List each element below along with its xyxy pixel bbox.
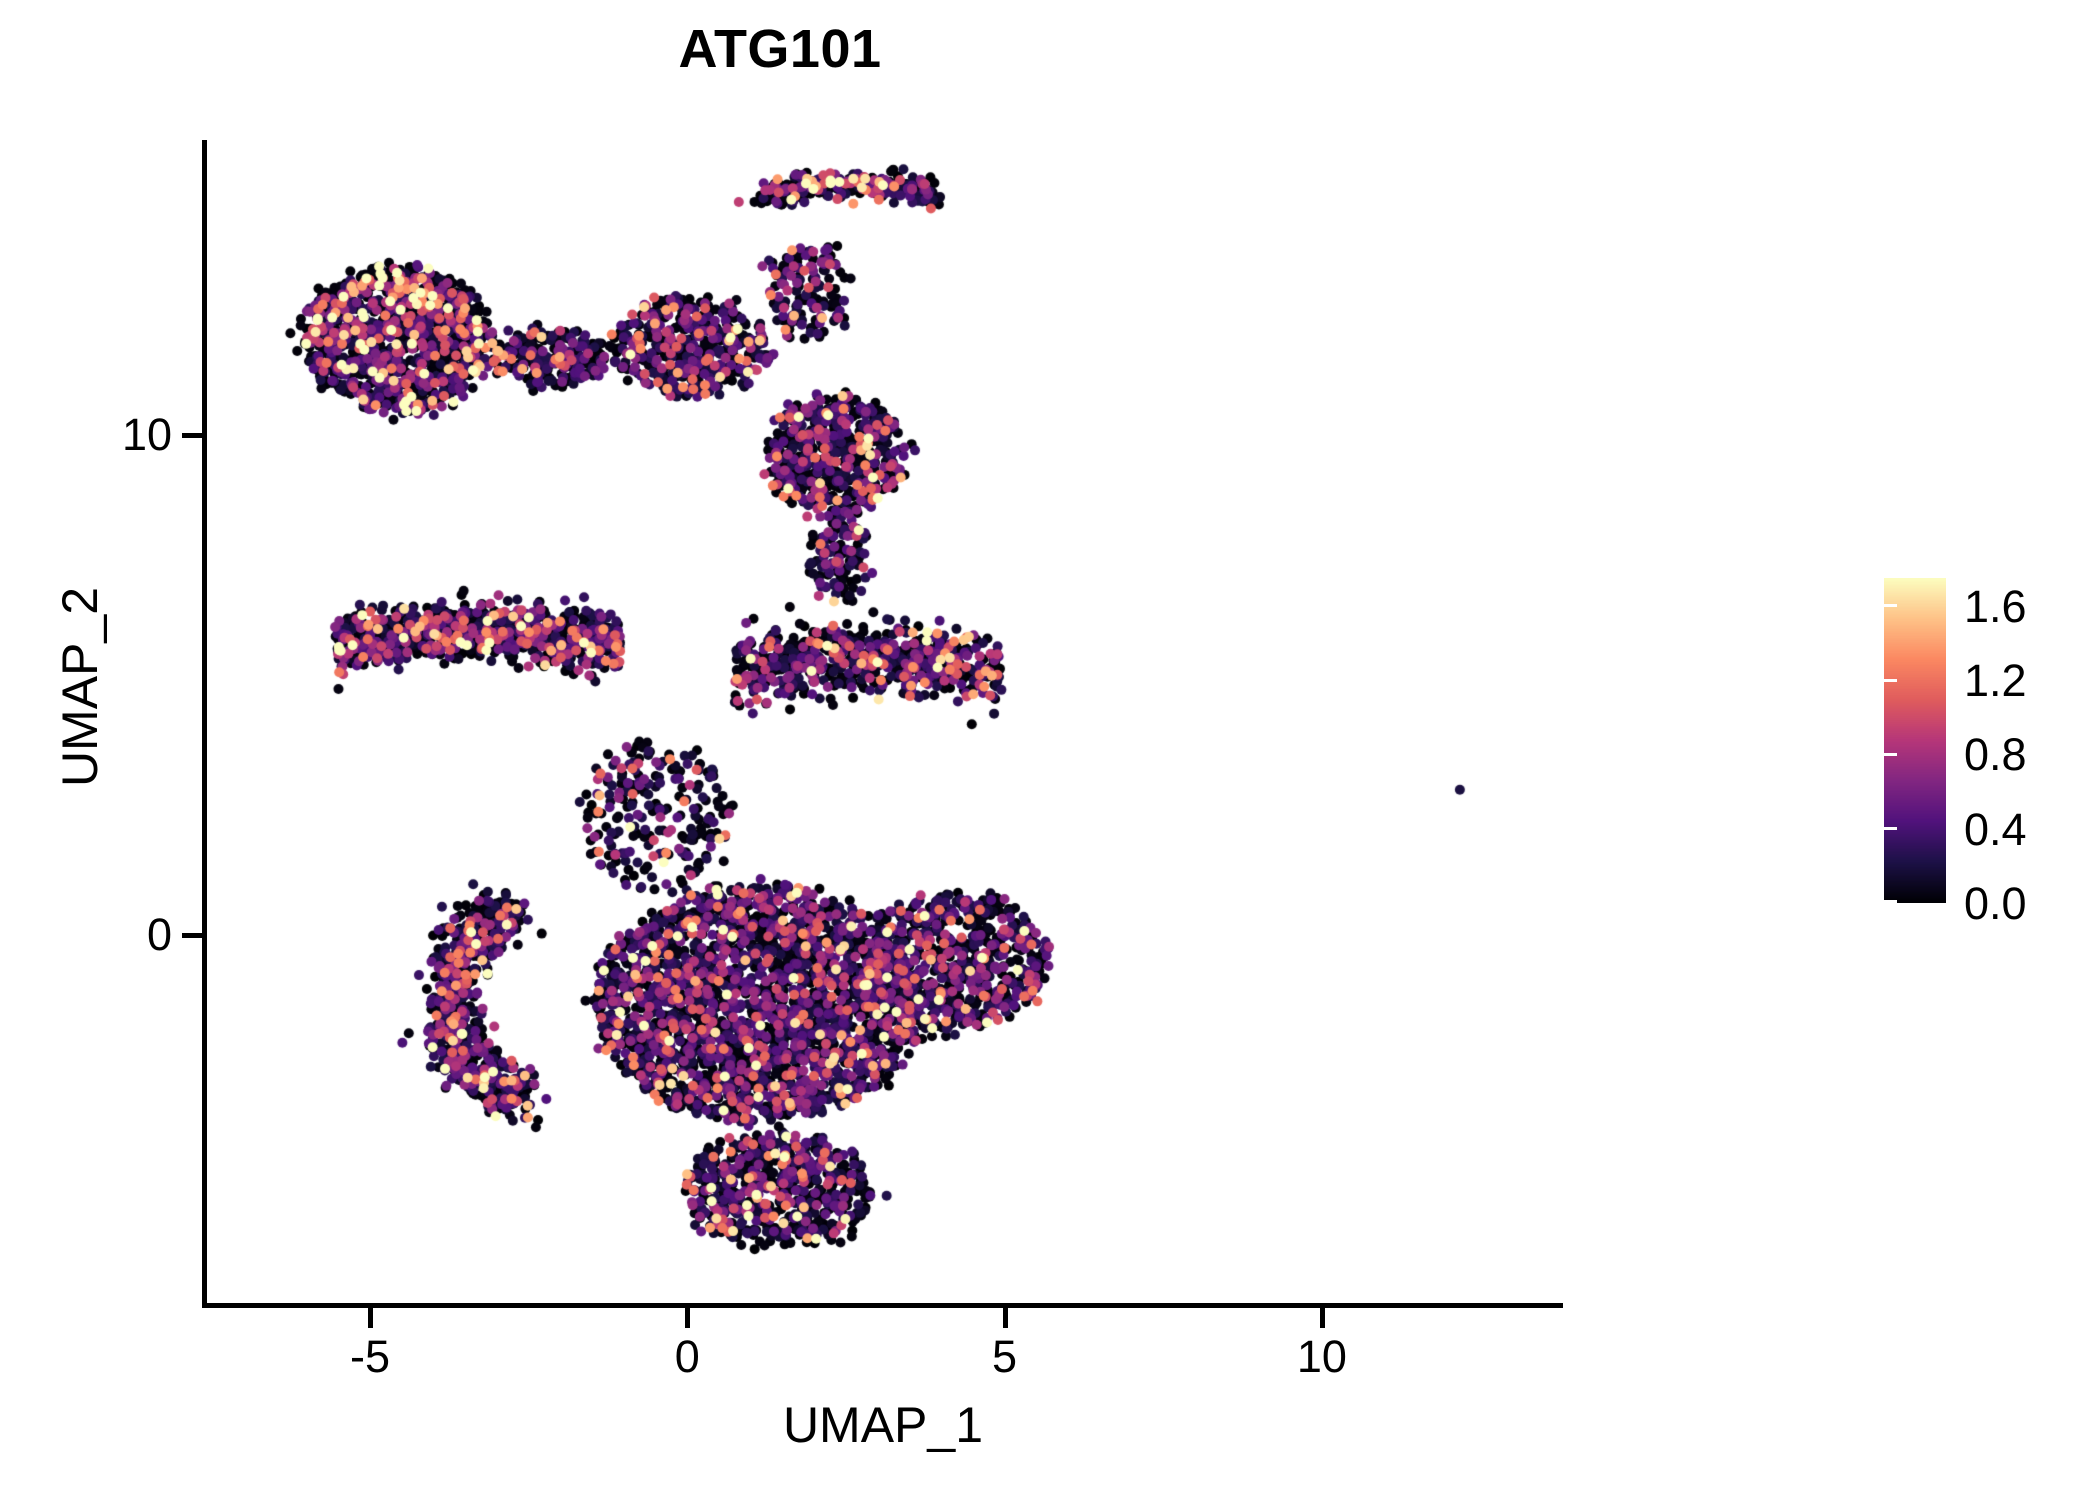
x-axis-title: UMAP_1 — [203, 1400, 1563, 1450]
colorbar-tick-label: 0.4 — [1964, 807, 2084, 852]
x-tick-mark — [685, 1308, 690, 1328]
feature-plot-figure: ATG101 -50510 010 UMAP_1 UMAP_2 0.00.40.… — [0, 0, 2100, 1500]
scatter-plot-panel — [205, 140, 1563, 1305]
x-tick-label: 5 — [935, 1332, 1075, 1382]
y-tick-mark — [182, 933, 202, 938]
x-tick-label: 0 — [617, 1332, 757, 1382]
x-tick-label: 10 — [1252, 1332, 1392, 1382]
x-tick-mark — [1320, 1308, 1325, 1328]
colorbar-tick-mark — [1884, 679, 1897, 682]
colorbar-tick-mark — [1884, 900, 1897, 903]
umap-scatter-canvas — [205, 140, 1563, 1305]
y-tick-mark — [182, 433, 202, 438]
x-axis-line — [202, 1303, 1563, 1308]
colorbar-tick-label: 1.6 — [1964, 584, 2084, 629]
colorbar-tick-mark — [1884, 604, 1897, 607]
colorbar-tick-mark — [1884, 753, 1897, 756]
color-legend: 0.00.40.81.21.6 — [1884, 578, 2074, 903]
colorbar-tick-label: 0.0 — [1964, 881, 2084, 926]
x-tick-mark — [1003, 1308, 1008, 1328]
colorbar-gradient — [1884, 578, 1946, 903]
colorbar-tick-mark — [1884, 827, 1897, 830]
y-axis-title: UMAP_2 — [55, 367, 105, 1007]
colorbar-tick-label: 0.8 — [1964, 732, 2084, 777]
x-tick-mark — [368, 1308, 373, 1328]
y-axis-line — [202, 140, 207, 1308]
colorbar-canvas — [1884, 578, 1946, 903]
x-tick-label: -5 — [300, 1332, 440, 1382]
page-title: ATG101 — [0, 22, 1560, 76]
colorbar-tick-label: 1.2 — [1964, 658, 2084, 703]
